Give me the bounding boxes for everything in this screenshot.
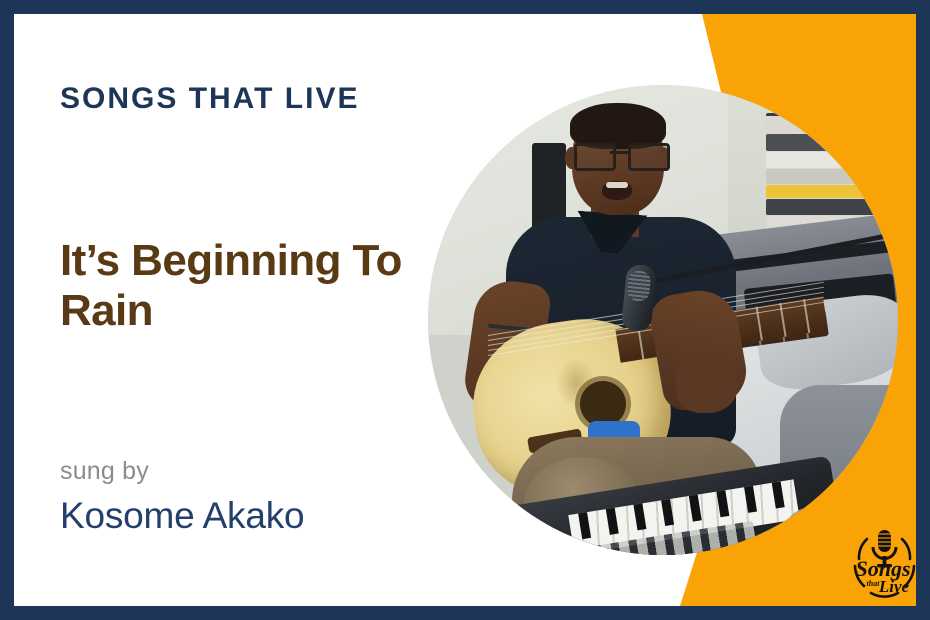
photo-scene bbox=[428, 85, 898, 555]
songs-that-live-logo: Songs that Live bbox=[840, 526, 916, 604]
photo-eyeglasses bbox=[574, 143, 664, 165]
photo-blue-object-left bbox=[438, 465, 478, 509]
song-title: It’s Beginning To Rain bbox=[60, 236, 450, 336]
logo-wordmark: Songs that Live bbox=[855, 556, 910, 596]
brand-eyebrow: SONGS THAT LIVE bbox=[60, 82, 359, 116]
performer-photo bbox=[428, 85, 898, 555]
card-canvas: SONGS THAT LIVE It’s Beginning To Rain s… bbox=[14, 14, 916, 606]
logo-word-live: Live bbox=[878, 577, 910, 596]
credit-label: sung by bbox=[60, 457, 149, 486]
songs-that-live-card: SONGS THAT LIVE It’s Beginning To Rain s… bbox=[0, 0, 930, 620]
photo-teeth bbox=[606, 182, 628, 188]
artist-name: Kosome Akako bbox=[60, 495, 304, 537]
text-column: SONGS THAT LIVE It’s Beginning To Rain s… bbox=[60, 14, 460, 606]
photo-strumming-hand bbox=[676, 357, 738, 413]
photo-ceiling-lamp bbox=[470, 85, 496, 113]
